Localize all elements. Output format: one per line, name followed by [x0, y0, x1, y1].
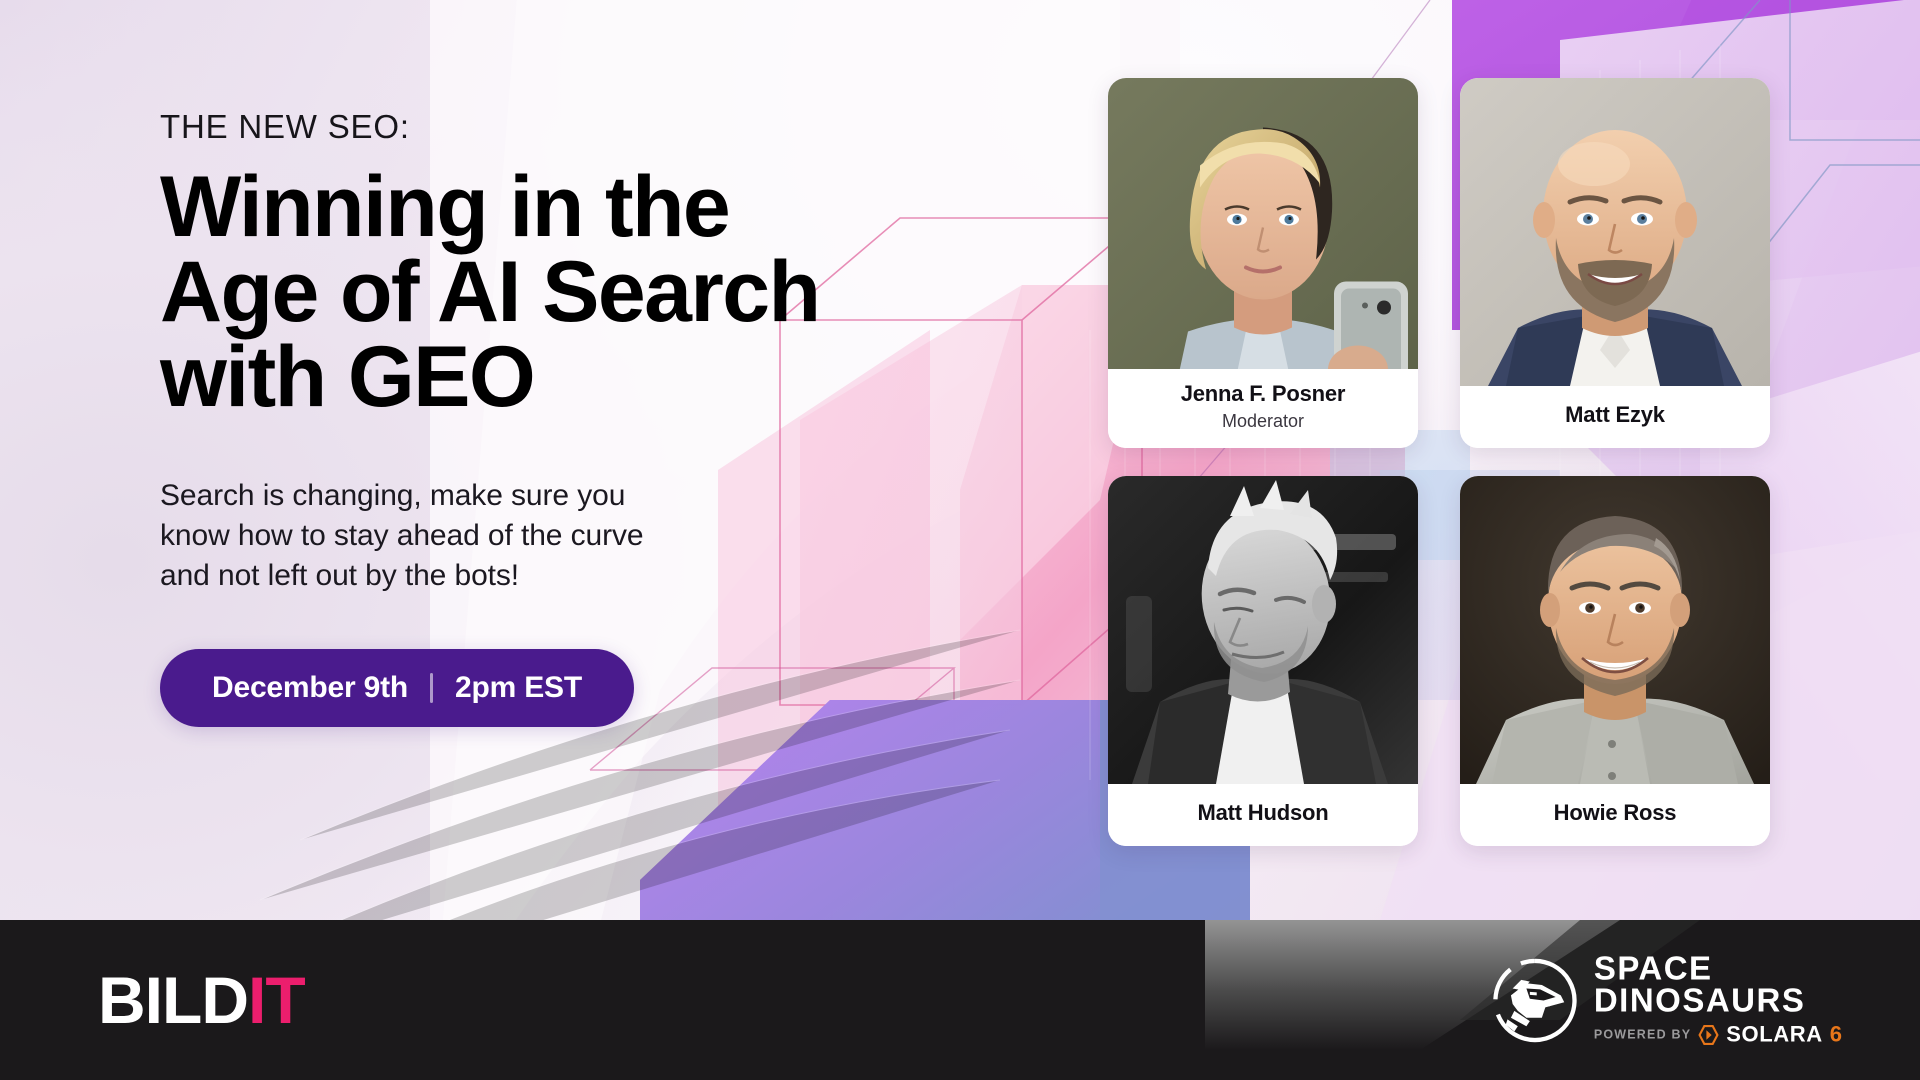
partner-name-suffix: 6	[1830, 1022, 1842, 1048]
powered-by-row: POWERED BY SOLARA 6	[1594, 1022, 1842, 1048]
speaker-grid: Jenna F. Posner Moderator	[1108, 78, 1770, 846]
event-datetime-button[interactable]: December 9th 2pm EST	[160, 649, 634, 727]
brand-line-1: SPACE	[1594, 953, 1842, 985]
bildit-logo-part1: BILD	[98, 967, 248, 1033]
speaker-card-matt-ezyk[interactable]: Matt Ezyk	[1460, 78, 1770, 448]
hero-content: THE NEW SEO: Winning in the Age of AI Se…	[160, 110, 980, 727]
solara-hexagon-icon	[1698, 1024, 1719, 1045]
space-dinosaurs-wordmark: SPACE DINOSAURS POWERED BY SOLARA 6	[1594, 953, 1842, 1048]
dinosaur-circle-icon	[1492, 957, 1578, 1043]
partner-name: SOLARA	[1726, 1022, 1823, 1048]
cta-divider	[430, 673, 433, 703]
speaker-card-howie-ross[interactable]: Howie Ross	[1460, 476, 1770, 846]
event-time: 2pm EST	[455, 671, 582, 705]
headshot-jenna-posner	[1108, 78, 1418, 369]
speaker-name: Howie Ross	[1554, 800, 1677, 826]
speaker-nameplate: Matt Ezyk	[1460, 386, 1770, 448]
bildit-logo-part2: IT	[248, 967, 305, 1033]
speaker-name: Jenna F. Posner	[1181, 381, 1346, 407]
footer-bar: BILD IT SPACE DINOSAURS POW	[0, 920, 1920, 1080]
brand-line-2: DINOSAURS	[1594, 985, 1842, 1017]
page-title: Winning in the Age of AI Search with GEO	[160, 165, 860, 420]
speaker-name: Matt Ezyk	[1565, 402, 1665, 428]
bildit-logo[interactable]: BILD IT	[98, 967, 305, 1033]
speaker-role: Moderator	[1222, 411, 1304, 432]
headshot-howie-ross	[1460, 476, 1770, 784]
hero-description: Search is changing, make sure you know h…	[160, 476, 690, 595]
speaker-card-matt-hudson[interactable]: Matt Hudson	[1108, 476, 1418, 846]
headshot-matt-ezyk	[1460, 78, 1770, 386]
webinar-promo-banner: THE NEW SEO: Winning in the Age of AI Se…	[0, 0, 1920, 1080]
event-date: December 9th	[212, 671, 408, 705]
speaker-card-jenna-posner[interactable]: Jenna F. Posner Moderator	[1108, 78, 1418, 448]
speaker-nameplate: Howie Ross	[1460, 784, 1770, 846]
powered-by-label: POWERED BY	[1594, 1028, 1691, 1042]
headshot-matt-hudson	[1108, 476, 1418, 784]
speaker-nameplate: Matt Hudson	[1108, 784, 1418, 846]
space-dinosaurs-logo[interactable]: SPACE DINOSAURS POWERED BY SOLARA 6	[1492, 953, 1842, 1048]
speaker-name: Matt Hudson	[1197, 800, 1328, 826]
speaker-nameplate: Jenna F. Posner Moderator	[1108, 369, 1418, 448]
hero-eyebrow: THE NEW SEO:	[160, 110, 980, 143]
